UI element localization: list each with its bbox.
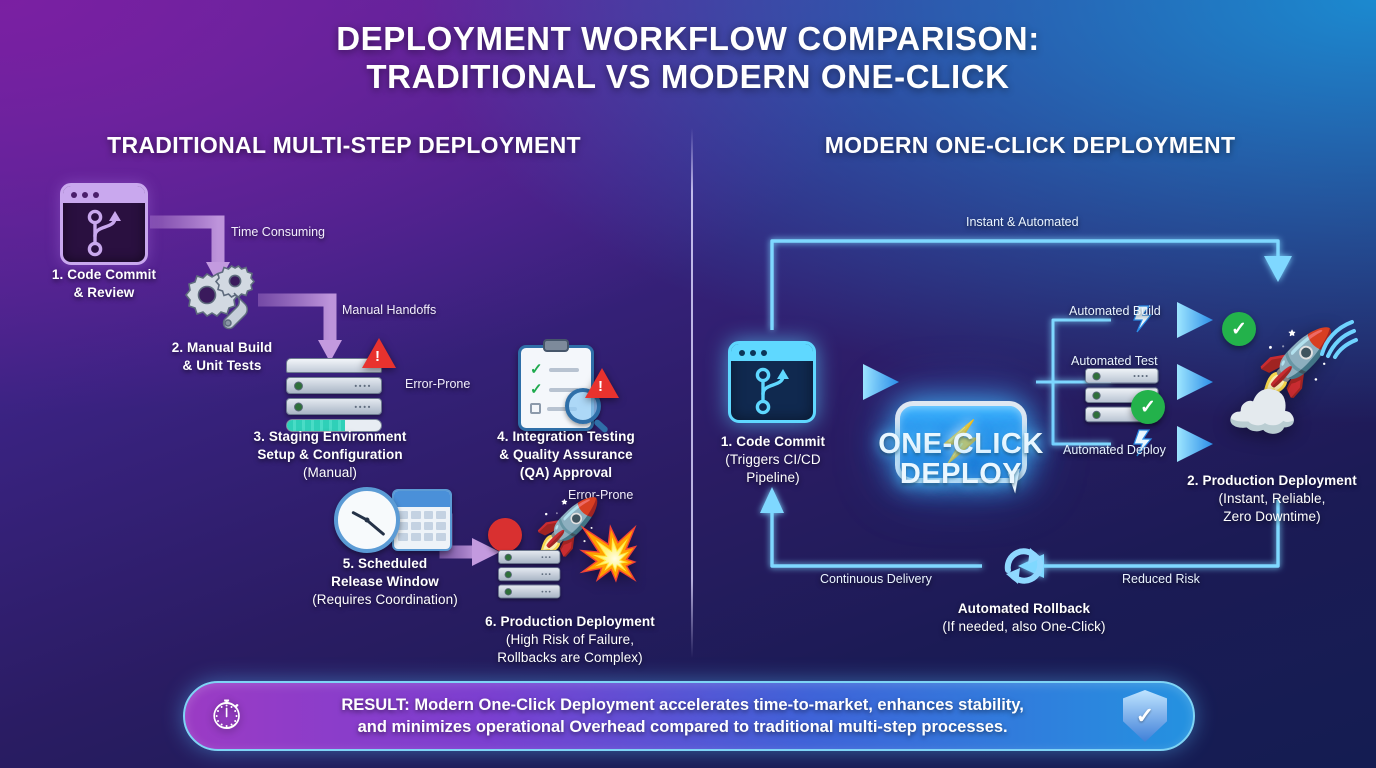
right-step-2-note: Zero Downtime) — [1172, 508, 1372, 526]
left-step-2 — [178, 263, 260, 335]
refresh-cycle-icon — [998, 540, 1050, 592]
right-step-2-label: 2. Production Deployment (Instant, Relia… — [1172, 472, 1372, 525]
result-line2: and minimizes operational Overhead compa… — [260, 716, 1105, 738]
left-step-4: ✓ ✓ — [518, 345, 594, 431]
shield-check-icon: ✓ — [1123, 690, 1167, 742]
server-unit: •••• — [286, 398, 382, 415]
rollback-title: Automated Rollback — [902, 600, 1146, 618]
left-step-6: 🚀 💥 ••• ••• ••• — [488, 500, 638, 600]
result-banner: ⏱ RESULT: Modern One-Click Deployment ac… — [183, 681, 1195, 751]
automated-rollback-icon — [998, 540, 1050, 597]
server-rack-icon: ••• ••• ••• — [498, 550, 560, 602]
server-unit: ••• — [498, 567, 560, 581]
success-check-icon: ✓ — [1131, 390, 1165, 424]
left-step-3-label: 3. Staging Environment Setup & Configura… — [216, 428, 444, 481]
warning-icon — [362, 338, 396, 368]
left-step-5-note: (Requires Coordination) — [290, 591, 480, 609]
right-step-1-label: 1. Code Commit (Triggers CI/CD Pipeline) — [700, 433, 846, 486]
clipboard-clip — [543, 339, 569, 352]
left-step-1-line2: & Review — [24, 284, 184, 302]
right-step-1-line2: (Triggers CI/CD — [700, 451, 846, 469]
calendar-icon — [392, 489, 452, 551]
clock-icon — [334, 487, 400, 553]
left-step-6-line2: (High Risk of Failure, — [450, 631, 690, 649]
left-step-5-label: 5. Scheduled Release Window (Requires Co… — [290, 555, 480, 608]
left-step-4-line2: & Quality Assurance — [458, 446, 674, 464]
automated-rollback-label: Automated Rollback (If needed, also One-… — [902, 600, 1146, 636]
edge-label-error-prone-1: Error-Prone — [405, 377, 470, 391]
right-step-2: ✓ 🚀 ☁️ — [1208, 312, 1358, 442]
stopwatch-icon: ⏱ — [211, 696, 242, 736]
rollback-note: (If needed, also One-Click) — [902, 618, 1146, 636]
code-window-icon — [728, 341, 816, 423]
right-step-2-line2: (Instant, Reliable, — [1172, 490, 1372, 508]
deploy-label-line2: DEPLOY — [861, 460, 1061, 490]
one-click-deploy-label: ONE-CLICK DEPLOY — [861, 430, 1061, 489]
deploy-label-line1: ONE-CLICK — [861, 430, 1061, 460]
edge-label-time-consuming: Time Consuming — [231, 225, 325, 239]
result-line1: RESULT: Modern One-Click Deployment acce… — [260, 694, 1105, 716]
server-unit: ••• — [498, 584, 560, 598]
failure-x-icon — [488, 518, 522, 552]
edge-label-automated-test: Automated Test — [1071, 354, 1158, 368]
git-branch-icon — [731, 361, 816, 423]
success-check-icon: ✓ — [1222, 312, 1256, 346]
gears-wrench-icon — [178, 263, 262, 337]
left-step-4-label: 4. Integration Testing & Quality Assuran… — [458, 428, 674, 481]
right-step-2-title: 2. Production Deployment — [1172, 472, 1372, 490]
left-step-6-title: 6. Production Deployment — [450, 613, 690, 631]
left-step-4-title: 4. Integration Testing — [458, 428, 674, 446]
left-step-2-line2: & Unit Tests — [146, 357, 298, 375]
left-step-5 — [334, 487, 452, 553]
right-step-1-title: 1. Code Commit — [700, 433, 846, 451]
git-branch-icon — [63, 203, 148, 265]
window-titlebar — [63, 186, 145, 203]
right-step-1 — [728, 341, 816, 423]
clipboard-magnifier-icon: ✓ ✓ — [518, 345, 594, 431]
left-step-2-label: 2. Manual Build & Unit Tests — [146, 339, 298, 375]
left-step-6-note: Rollbacks are Complex) — [450, 649, 690, 667]
left-step-1 — [60, 183, 148, 265]
left-step-4-note: (QA) Approval — [458, 464, 674, 482]
edge-label-automated-deploy: Automated Deploy — [1063, 443, 1166, 457]
server-unit: •••• — [286, 377, 382, 394]
result-text: RESULT: Modern One-Click Deployment acce… — [260, 694, 1105, 739]
edge-label-instant-automated: Instant & Automated — [966, 215, 1079, 229]
window-titlebar — [731, 344, 813, 361]
server-unit: •••• — [1085, 368, 1159, 384]
right-step-1-note: Pipeline) — [700, 469, 846, 487]
edge-label-reduced-risk: Reduced Risk — [1122, 572, 1200, 586]
left-step-3-title: 3. Staging Environment — [216, 428, 444, 446]
edge-label-automated-build: Automated Build — [1069, 304, 1161, 318]
left-step-1-title: 1. Code Commit — [24, 266, 184, 284]
left-step-3-line2: Setup & Configuration — [216, 446, 444, 464]
signal-waves-icon — [1316, 314, 1362, 358]
warning-icon — [585, 368, 619, 398]
left-step-6-label: 6. Production Deployment (High Risk of F… — [450, 613, 690, 666]
left-step-5-line2: Release Window — [290, 573, 480, 591]
left-step-1-label: 1. Code Commit & Review — [24, 266, 184, 302]
edge-label-continuous-delivery: Continuous Delivery — [820, 572, 932, 586]
code-window-icon — [60, 183, 148, 265]
left-step-3-note: (Manual) — [216, 464, 444, 482]
server-unit: ••• — [498, 550, 560, 564]
cloud-icon: ☁️ — [1226, 384, 1298, 442]
edge-label-manual-handoffs: Manual Handoffs — [342, 303, 436, 317]
explosion-icon: 💥 — [576, 528, 641, 580]
left-step-3: •••• •••• — [286, 358, 382, 432]
infographic-canvas: DEPLOYMENT WORKFLOW COMPARISON: TRADITIO… — [0, 0, 1376, 768]
left-step-5-title: 5. Scheduled — [290, 555, 480, 573]
left-step-2-title: 2. Manual Build — [146, 339, 298, 357]
